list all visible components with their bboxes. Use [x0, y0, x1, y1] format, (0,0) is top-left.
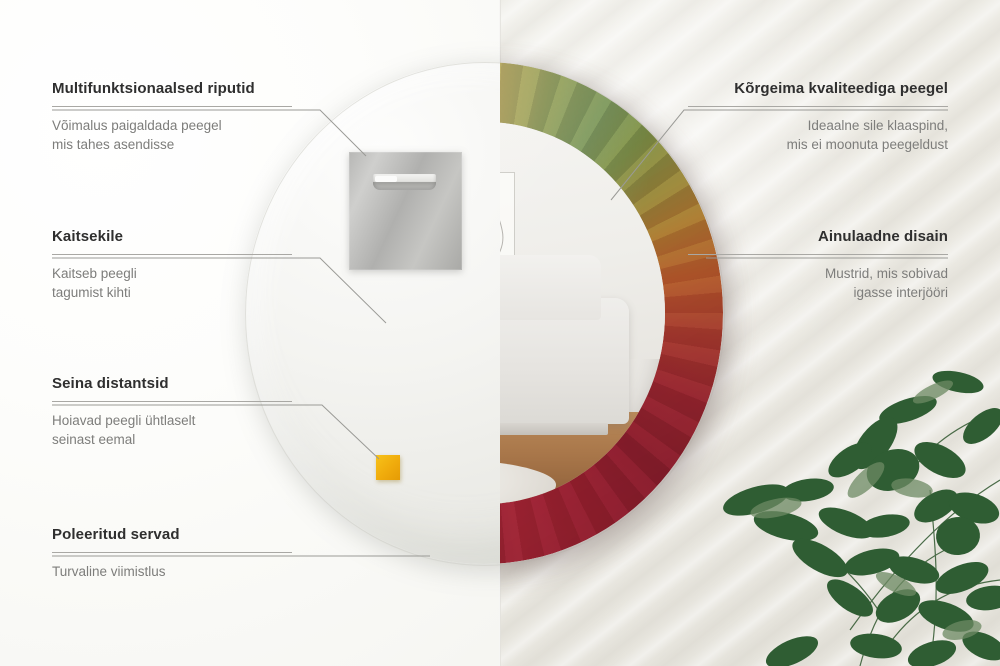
callout-multifunktsionaalsed-riputid: Multifunktsionaalsed riputid Võimalus pa…: [52, 80, 292, 154]
infographic-canvas: Multifunktsionaalsed riputid Võimalus pa…: [0, 0, 1000, 666]
plant-foliage: [700, 330, 1000, 666]
callout-title: Kõrgeima kvaliteediga peegel: [688, 80, 948, 97]
callout-description: Võimalus paigaldada peegel mis tahes ase…: [52, 116, 292, 154]
reflected-sofa: [500, 298, 629, 424]
callout-title: Seina distantsid: [52, 375, 292, 392]
mirror-glass: [500, 122, 665, 504]
callout-rule: [52, 254, 292, 255]
callout-rule: [52, 401, 292, 402]
callout-description: Mustrid, mis sobivad igasse interjööri: [688, 264, 948, 302]
wall-spacer: [376, 455, 400, 480]
hanger-plate: [349, 152, 462, 270]
callout-title: Ainulaadne disain: [688, 228, 948, 245]
callout-rule: [52, 106, 292, 107]
callout-rule: [688, 254, 948, 255]
callout-title: Kaitsekile: [52, 228, 292, 245]
callout-description: Hoiavad peegli ühtlaselt seinast eemal: [52, 411, 292, 449]
reflected-sofa-base: [500, 423, 608, 436]
callout-rule: [688, 106, 948, 107]
callout-description: Kaitseb peegli tagumist kihti: [52, 264, 292, 302]
callout-description: Ideaalne sile klaaspind, mis ei moonuta …: [688, 116, 948, 154]
callout-description: Turvaline viimistlus: [52, 562, 292, 581]
callout-korgeima-kvaliteediga-peegel: Kõrgeima kvaliteediga peegel Ideaalne si…: [688, 80, 948, 154]
callout-poleeritud-servad: Poleeritud servad Turvaline viimistlus: [52, 526, 292, 581]
callout-rule: [52, 552, 292, 553]
callout-kaitsekile: Kaitsekile Kaitseb peegli tagumist kihti: [52, 228, 292, 302]
callout-title: Multifunktsionaalsed riputid: [52, 80, 292, 97]
callout-ainulaadne-disain: Ainulaadne disain Mustrid, mis sobivad i…: [688, 228, 948, 302]
callout-title: Poleeritud servad: [52, 526, 292, 543]
reflected-sofa-back: [500, 255, 601, 321]
callout-seina-distantsid: Seina distantsid Hoiavad peegli ühtlasel…: [52, 375, 292, 449]
hanger-slot-icon: [373, 174, 436, 190]
